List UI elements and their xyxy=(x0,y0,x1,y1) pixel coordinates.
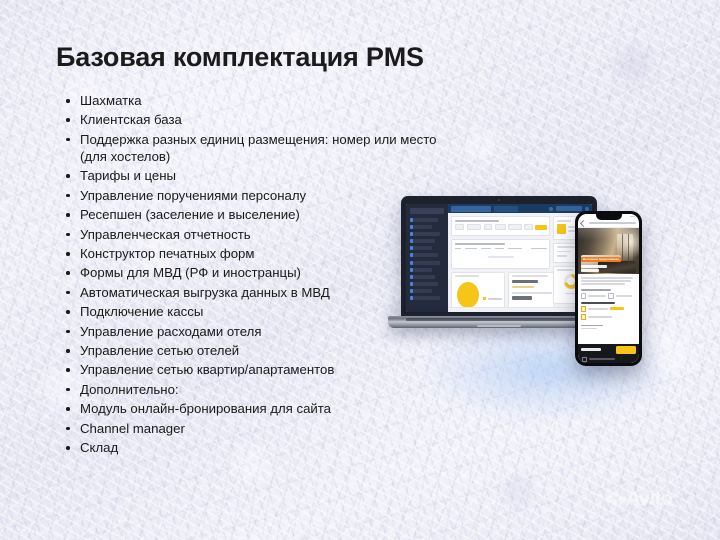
sidebar-item[interactable] xyxy=(410,239,435,243)
terms-label xyxy=(589,358,615,360)
table-card xyxy=(451,239,550,268)
sidebar-item[interactable] xyxy=(410,268,432,272)
app-logo xyxy=(410,208,444,214)
feature-item: Шахматка xyxy=(80,92,440,109)
rate-label xyxy=(588,316,612,318)
menu-icon[interactable] xyxy=(585,207,589,211)
laptop-lid xyxy=(401,196,597,318)
page-title: Базовая комплектация PMS xyxy=(56,42,424,73)
filter-field[interactable] xyxy=(508,224,521,230)
card-title xyxy=(557,246,575,248)
amenity-icon xyxy=(581,293,586,298)
sidebar-item[interactable] xyxy=(410,246,432,250)
feature-item: Тарифы и цены xyxy=(80,167,440,184)
back-icon[interactable] xyxy=(580,219,587,226)
column-header xyxy=(481,248,491,250)
feature-item: Управление сетью отелей xyxy=(80,342,440,359)
room-icon xyxy=(557,224,566,234)
laptop-hinge xyxy=(406,318,592,321)
overlay-line xyxy=(581,269,599,272)
legend-label xyxy=(488,298,502,300)
dates-heading xyxy=(581,325,603,327)
card-title xyxy=(455,220,499,222)
app-main xyxy=(448,204,592,312)
rates-heading xyxy=(581,302,615,304)
phone-screen: Выгодное предложение xyxy=(578,214,639,363)
app-content-column xyxy=(451,216,550,304)
card-title xyxy=(557,269,573,271)
phone-navbar xyxy=(578,219,639,228)
feature-item: Подключение кассы xyxy=(80,303,440,320)
book-button[interactable] xyxy=(616,346,636,354)
empty-state-text xyxy=(488,256,514,258)
column-header xyxy=(455,248,461,250)
table-title xyxy=(455,243,505,245)
filter-field[interactable] xyxy=(484,224,493,230)
notification-icon[interactable] xyxy=(549,207,553,211)
description-line xyxy=(581,277,633,279)
legend-swatch xyxy=(483,297,486,300)
feature-item: Поддержка разных единиц размещения: номе… xyxy=(80,131,440,166)
chart-title xyxy=(455,275,479,277)
phone-notch xyxy=(596,214,622,220)
pie-chart xyxy=(457,282,479,308)
app-footer xyxy=(448,307,592,312)
chart-legend xyxy=(483,290,502,308)
app-header xyxy=(448,204,592,213)
card-title xyxy=(512,275,548,277)
metric-value xyxy=(512,280,538,283)
sidebar-item[interactable] xyxy=(410,232,440,236)
filter-field[interactable] xyxy=(495,224,506,230)
webcam-icon xyxy=(498,199,500,201)
filter-field[interactable] xyxy=(455,224,465,230)
sidebar-item[interactable] xyxy=(410,289,432,293)
column-header xyxy=(531,248,547,250)
tab-active[interactable] xyxy=(451,206,491,212)
room-photo: Выгодное предложение xyxy=(578,228,639,274)
amenity-label xyxy=(588,295,606,297)
feature-item: Склад xyxy=(80,439,440,456)
apply-button[interactable] xyxy=(535,225,546,230)
feature-list: ШахматкаКлиентская базаПоддержка разных … xyxy=(58,92,440,458)
rate-label xyxy=(588,308,608,310)
slide-canvas: Базовая комплектация PMS ШахматкаКлиентс… xyxy=(0,0,720,540)
feature-item: Формы для МВД (РФ и иностранцы) xyxy=(80,264,440,281)
feature-item: Управление расходами отеля xyxy=(80,323,440,340)
filter-card xyxy=(451,216,550,236)
app-body xyxy=(448,213,592,307)
total-price xyxy=(581,348,601,351)
card-title xyxy=(512,292,552,294)
avito-wordmark: Avito xyxy=(626,489,672,509)
phone-footer-bar xyxy=(578,355,639,363)
overlay-line xyxy=(581,265,607,268)
feature-item: Управление сетью квартир/апартаментов xyxy=(80,361,440,378)
card-title xyxy=(557,220,571,222)
laptop-screen xyxy=(406,204,592,312)
sidebar-item[interactable] xyxy=(410,296,440,300)
app-sidebar[interactable] xyxy=(406,204,448,312)
avito-watermark: Avito xyxy=(606,489,672,509)
avito-logo-icon xyxy=(606,492,623,507)
amenity-label xyxy=(616,295,632,297)
sidebar-item[interactable] xyxy=(410,218,438,222)
dates-value xyxy=(581,328,597,330)
column-header xyxy=(495,248,504,250)
amenity-icon xyxy=(608,293,613,298)
phone-page-title xyxy=(589,222,636,224)
laptop-mockup xyxy=(401,196,597,341)
sidebar-item[interactable] xyxy=(410,225,432,229)
pie-chart-card xyxy=(451,272,505,312)
feature-item: Управленческая отчетность xyxy=(80,226,440,243)
filter-field[interactable] xyxy=(467,224,481,230)
revenue-card xyxy=(508,272,555,312)
feature-item: Channel manager xyxy=(80,420,440,437)
feature-item: Дополнительно: xyxy=(80,381,440,398)
description-line xyxy=(581,283,625,285)
rate-radio-icon[interactable] xyxy=(581,306,586,311)
table-header-row xyxy=(455,248,547,250)
section-heading xyxy=(581,289,611,291)
tab-secondary[interactable] xyxy=(494,206,518,212)
rate-radio-icon[interactable] xyxy=(581,314,586,319)
filter-row xyxy=(455,224,547,230)
metrics-row xyxy=(451,272,550,312)
user-chip[interactable] xyxy=(556,206,582,211)
terms-checkbox[interactable] xyxy=(582,357,587,362)
card-line xyxy=(557,255,567,257)
card-line xyxy=(557,251,571,253)
booking-cta-bar xyxy=(578,344,639,355)
feature-item: Клиентская база xyxy=(80,111,440,128)
offer-badge: Выгодное предложение xyxy=(581,257,621,262)
sidebar-item[interactable] xyxy=(410,282,438,286)
sidebar-item[interactable] xyxy=(410,253,438,257)
feature-item: Управление поручениями персоналу xyxy=(80,187,440,204)
rate-price-tag xyxy=(610,307,624,310)
column-header xyxy=(508,248,522,250)
sidebar-item[interactable] xyxy=(410,261,440,265)
column-header xyxy=(465,248,477,250)
phone-mockup: Выгодное предложение xyxy=(575,211,642,366)
photo-title-overlay xyxy=(581,265,607,272)
metric-value xyxy=(512,296,532,299)
feature-item: Конструктор печатных форм xyxy=(80,245,440,262)
metric-caption xyxy=(512,286,534,288)
rate-option-row[interactable] xyxy=(581,314,636,319)
filter-field[interactable] xyxy=(524,224,533,230)
amenity-row xyxy=(581,293,636,298)
sidebar-item[interactable] xyxy=(410,275,435,279)
rate-option-row[interactable] xyxy=(581,306,636,311)
feature-item: Автоматическая выгрузка данных в МВД xyxy=(80,284,440,301)
feature-item: Ресепшен (заселение и выселение) xyxy=(80,206,440,223)
battery-icon xyxy=(630,216,635,218)
description-line xyxy=(581,280,631,282)
feature-item: Модуль онлайн-бронирования для сайта xyxy=(80,400,440,417)
